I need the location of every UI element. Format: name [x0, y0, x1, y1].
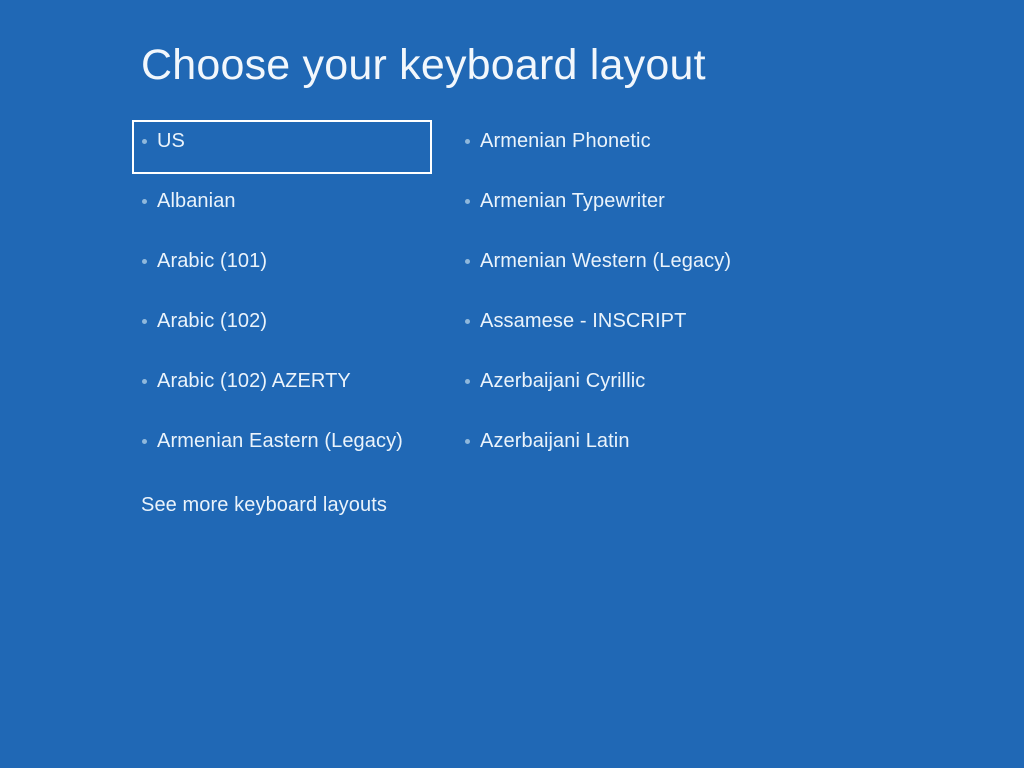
- keyboard-layout-label: US: [157, 128, 185, 154]
- keyboard-layout-list: USAlbanianArabic (101)Arabic (102)Arabic…: [0, 0, 1024, 768]
- keyboard-layout-label: Armenian Western (Legacy): [480, 248, 731, 274]
- keyboard-layout-item[interactable]: Armenian Eastern (Legacy): [132, 420, 432, 474]
- keyboard-layout-item[interactable]: Albanian: [132, 180, 432, 234]
- bullet-icon: [142, 379, 147, 384]
- see-more-keyboard-layouts-link[interactable]: See more keyboard layouts: [141, 492, 387, 518]
- bullet-icon: [465, 439, 470, 444]
- keyboard-layout-item[interactable]: Azerbaijani Latin: [455, 420, 785, 474]
- keyboard-layout-item[interactable]: Armenian Phonetic: [455, 120, 785, 174]
- bullet-icon: [142, 439, 147, 444]
- keyboard-layout-label: Assamese - INSCRIPT: [480, 308, 686, 334]
- keyboard-layout-label: Arabic (102) AZERTY: [157, 368, 351, 394]
- keyboard-layout-item[interactable]: US: [132, 120, 432, 174]
- keyboard-layout-label: Arabic (102): [157, 308, 267, 334]
- keyboard-layout-item[interactable]: Arabic (102): [132, 300, 432, 354]
- bullet-icon: [465, 319, 470, 324]
- bullet-icon: [465, 259, 470, 264]
- keyboard-layout-screen: Choose your keyboard layout USAlbanianAr…: [0, 0, 1024, 768]
- keyboard-layout-item[interactable]: Azerbaijani Cyrillic: [455, 360, 785, 414]
- keyboard-layout-label: Azerbaijani Cyrillic: [480, 368, 645, 394]
- keyboard-layout-label: Arabic (101): [157, 248, 267, 274]
- bullet-icon: [465, 139, 470, 144]
- bullet-icon: [142, 139, 147, 144]
- keyboard-layout-item[interactable]: Arabic (101): [132, 240, 432, 294]
- keyboard-layout-item[interactable]: Assamese - INSCRIPT: [455, 300, 785, 354]
- keyboard-layout-label: Armenian Typewriter: [480, 188, 665, 214]
- keyboard-layout-label: Azerbaijani Latin: [480, 428, 630, 454]
- keyboard-layout-item[interactable]: Arabic (102) AZERTY: [132, 360, 432, 414]
- keyboard-layout-label: Albanian: [157, 188, 236, 214]
- bullet-icon: [465, 379, 470, 384]
- keyboard-layout-item[interactable]: Armenian Western (Legacy): [455, 240, 785, 294]
- bullet-icon: [142, 259, 147, 264]
- bullet-icon: [142, 319, 147, 324]
- keyboard-layout-label: Armenian Phonetic: [480, 128, 651, 154]
- right-column: Armenian PhoneticArmenian TypewriterArme…: [455, 120, 785, 480]
- left-column: USAlbanianArabic (101)Arabic (102)Arabic…: [132, 120, 432, 480]
- keyboard-layout-label: Armenian Eastern (Legacy): [157, 428, 403, 454]
- keyboard-layout-item[interactable]: Armenian Typewriter: [455, 180, 785, 234]
- bullet-icon: [142, 199, 147, 204]
- bullet-icon: [465, 199, 470, 204]
